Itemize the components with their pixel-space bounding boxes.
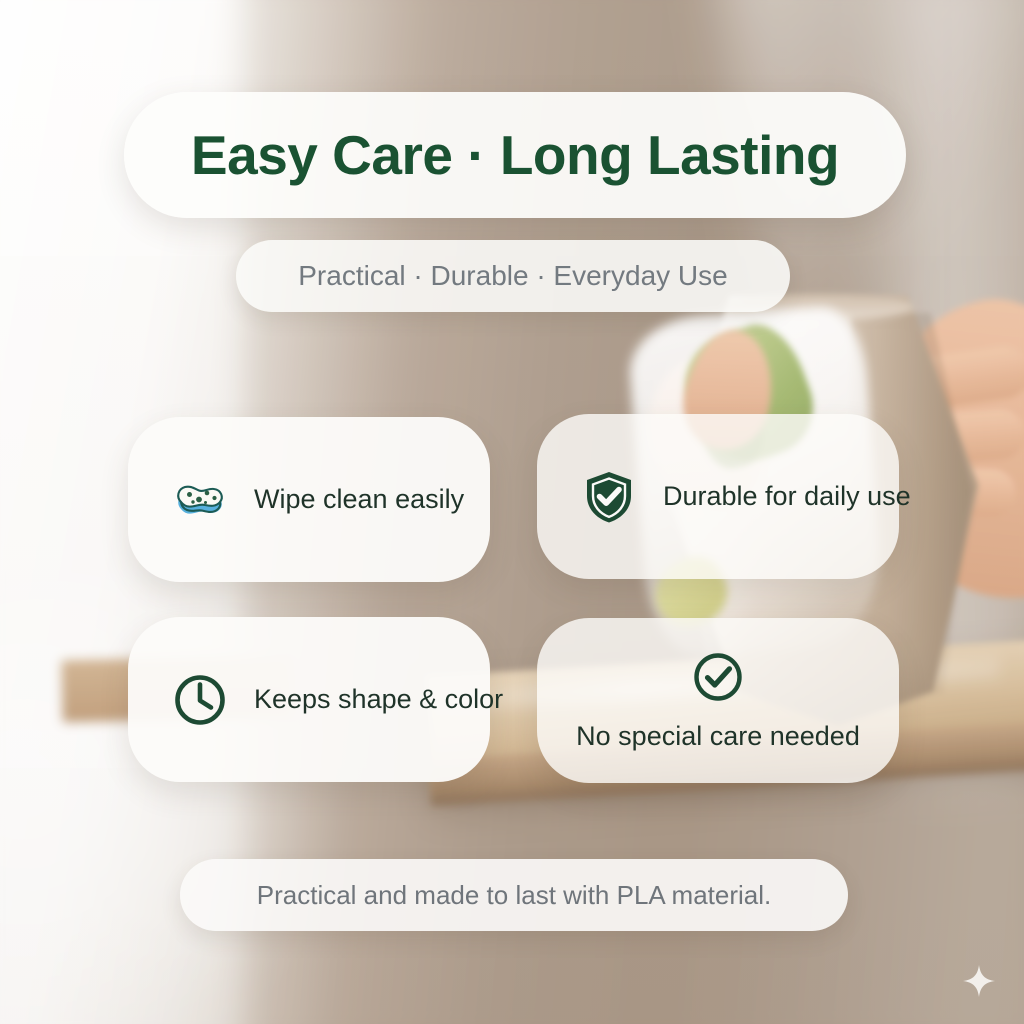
page-subtitle: Practical · Durable · Everyday Use xyxy=(298,260,727,292)
clock-icon xyxy=(172,672,228,728)
content-overlay: Easy Care · Long Lasting Practical · Dur… xyxy=(0,0,1024,1024)
title-pill: Easy Care · Long Lasting xyxy=(124,92,906,218)
footer-pill: Practical and made to last with PLA mate… xyxy=(180,859,848,931)
page-title: Easy Care · Long Lasting xyxy=(191,123,839,187)
sponge-icon xyxy=(172,472,228,528)
feature-label: No special care needed xyxy=(576,721,860,752)
shield-check-icon xyxy=(581,469,637,525)
feature-card-durable[interactable]: Durable for daily use xyxy=(537,414,899,579)
feature-card-keeps-shape[interactable]: Keeps shape & color xyxy=(128,617,490,782)
feature-card-wipe-clean[interactable]: Wipe clean easily xyxy=(128,417,490,582)
feature-label: Keeps shape & color xyxy=(254,684,503,715)
check-circle-icon xyxy=(690,649,746,705)
infographic-canvas: Easy Care · Long Lasting Practical · Dur… xyxy=(0,0,1024,1024)
footer-text: Practical and made to last with PLA mate… xyxy=(257,880,771,911)
feature-card-no-special-care[interactable]: No special care needed xyxy=(537,618,899,783)
subtitle-pill: Practical · Durable · Everyday Use xyxy=(236,240,790,312)
sparkle-icon xyxy=(962,964,996,998)
feature-label: Wipe clean easily xyxy=(254,484,464,515)
feature-label: Durable for daily use xyxy=(663,481,911,512)
